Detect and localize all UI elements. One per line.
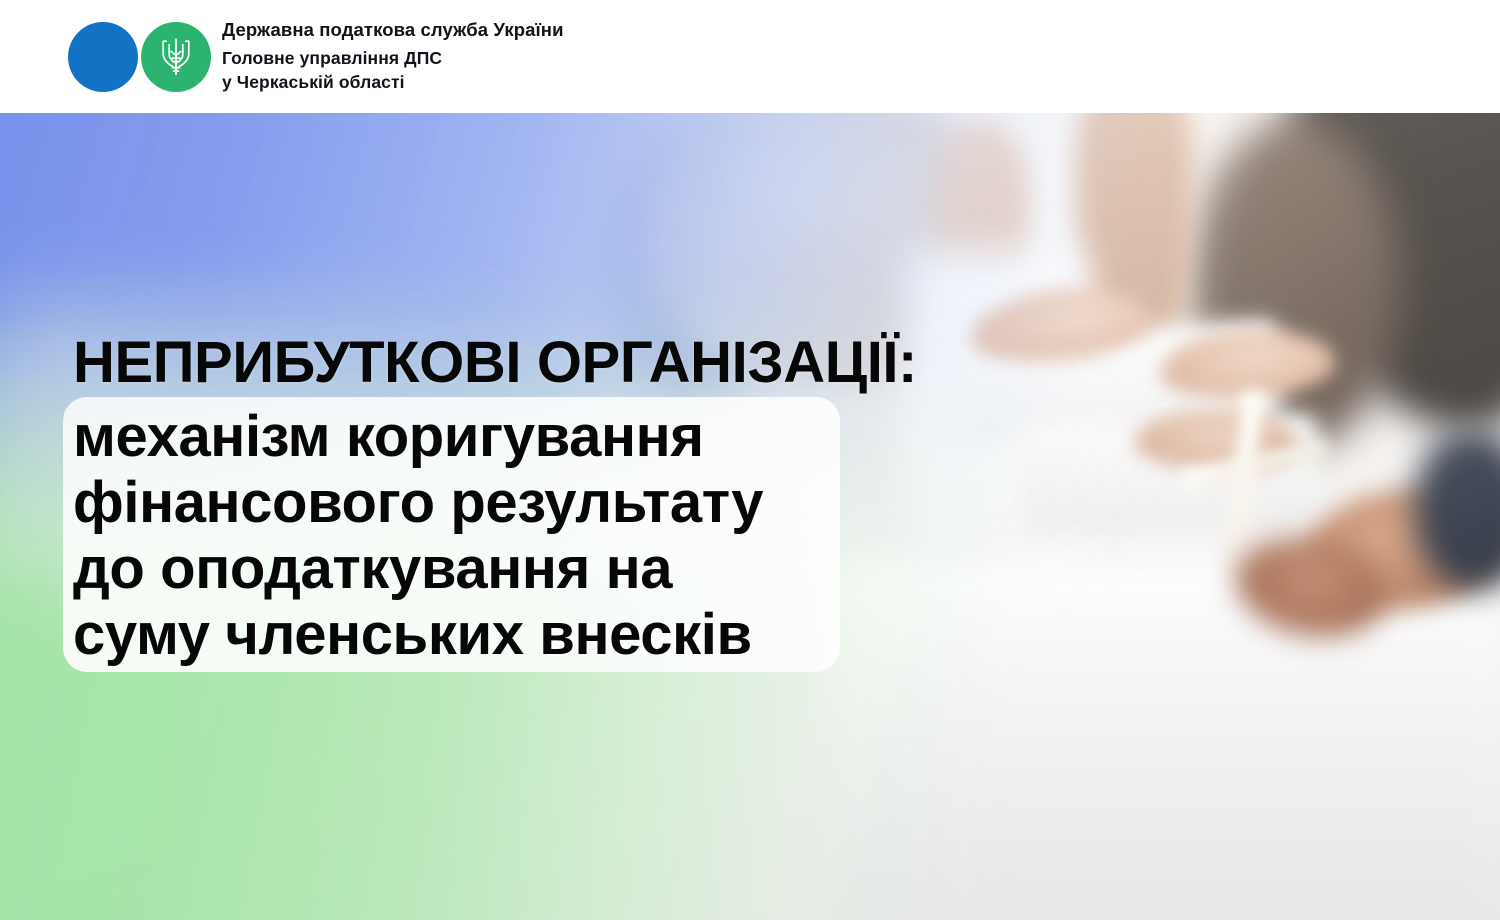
headline-subtitle-line-3: до оподаткування на bbox=[73, 536, 900, 602]
blue-circle-mark bbox=[68, 22, 138, 92]
promo-banner: Державна податкова служба України Головн… bbox=[0, 0, 1500, 920]
headline-subtitle: механізм коригування фінансового результ… bbox=[0, 404, 900, 668]
green-circle-mark bbox=[141, 22, 211, 92]
agency-name-line-3: у Черкаській області bbox=[222, 74, 564, 92]
agency-name-block: Державна податкова служба України Головн… bbox=[222, 21, 564, 92]
agency-name-line-2: Головне управління ДПС bbox=[222, 50, 564, 68]
headline-block: НЕПРИБУТКОВІ ОРГАНІЗАЦІЇ: механізм кориг… bbox=[0, 330, 900, 668]
headline-subtitle-line-4: суму членських внесків bbox=[73, 602, 900, 668]
agency-logo bbox=[68, 21, 211, 93]
agency-name-line-1: Державна податкова служба України bbox=[222, 21, 564, 40]
headline-subtitle-line-1: механізм коригування bbox=[73, 404, 900, 470]
headline-subtitle-line-2: фінансового результату bbox=[73, 470, 900, 536]
brand-header: Державна податкова служба України Головн… bbox=[0, 0, 1500, 113]
page-title: НЕПРИБУТКОВІ ОРГАНІЗАЦІЇ: bbox=[0, 330, 900, 396]
ukraine-trident-emblem bbox=[159, 37, 193, 77]
